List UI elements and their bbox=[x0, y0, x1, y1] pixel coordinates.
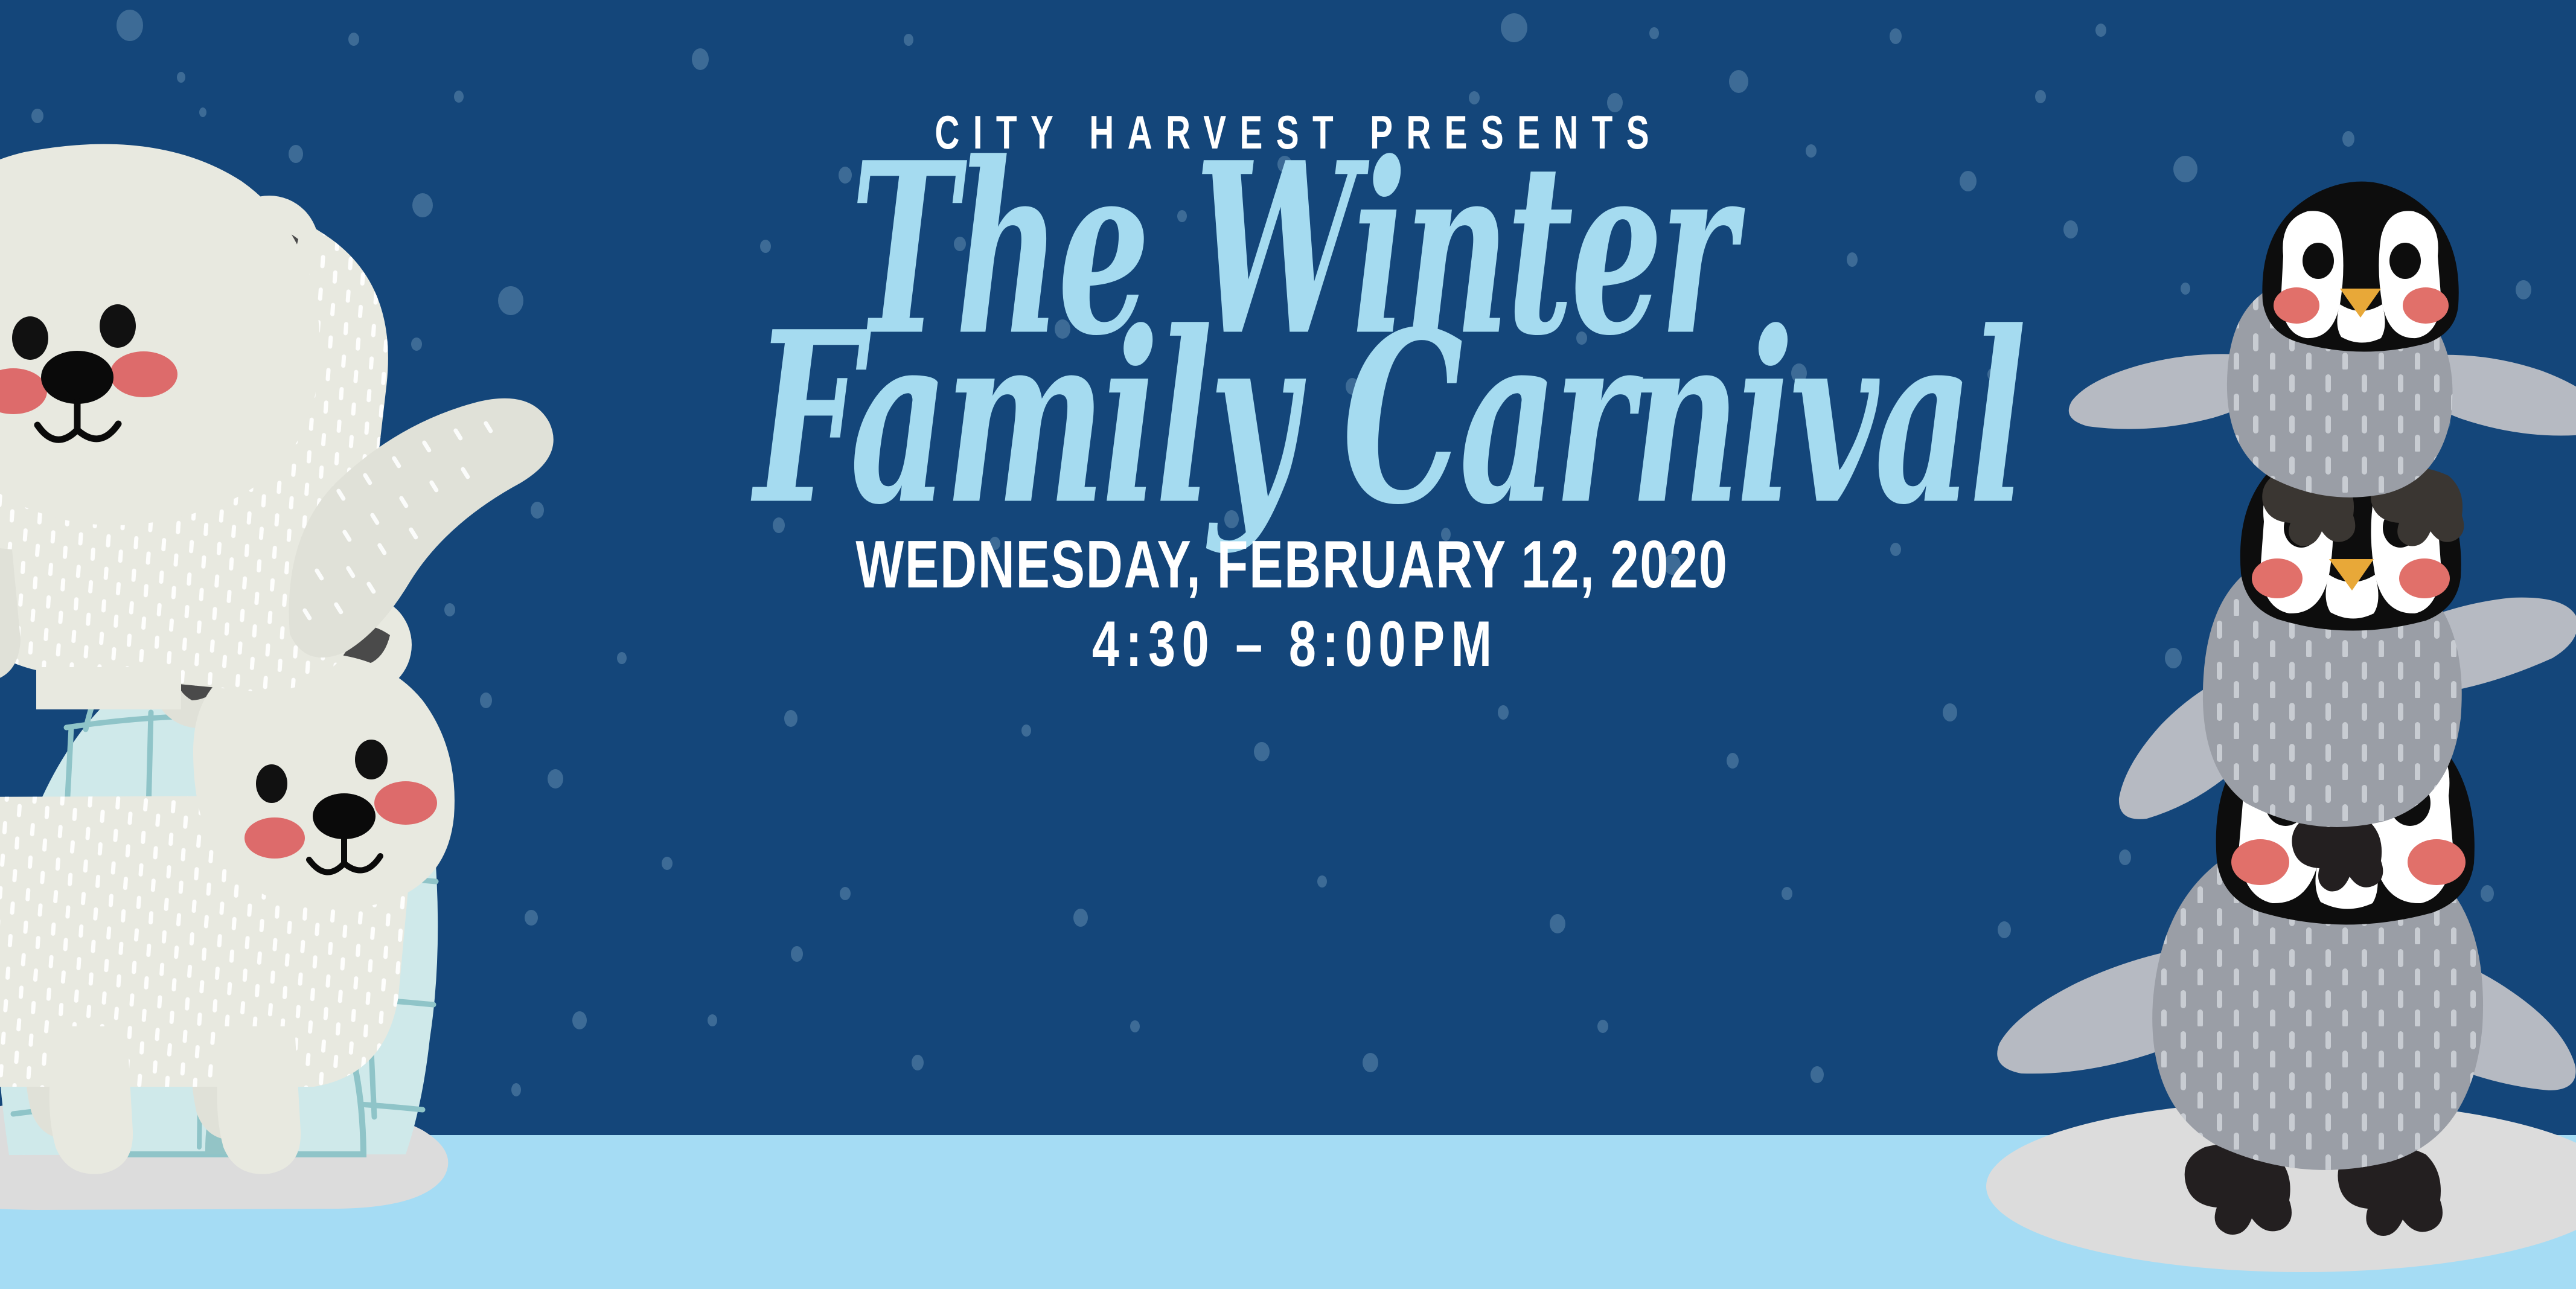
event-time: 4:30 – 8:00PM bbox=[729, 608, 1855, 680]
banner-text-block: CITY HARVEST PRESENTS The Winter Family … bbox=[652, 109, 1932, 676]
penguin-top-eye-right bbox=[2389, 243, 2421, 279]
event-date: WEDNESDAY, FEBRUARY 12, 2020 bbox=[729, 527, 1855, 603]
penguin-bottom-cheek-right bbox=[2408, 839, 2466, 885]
penguin-top-cheek-left bbox=[2274, 287, 2319, 324]
penguin-bottom-cheek-left bbox=[2231, 839, 2289, 885]
penguin-top-eye-left bbox=[2303, 243, 2334, 279]
penguin-top bbox=[2069, 182, 2576, 546]
event-datetime: WEDNESDAY, FEBRUARY 12, 2020 4:30 – 8:00… bbox=[652, 533, 1932, 676]
event-title: The Winter Family Carnival bbox=[652, 171, 1932, 496]
penguin-middle-cheek-right bbox=[2399, 558, 2450, 598]
title-line-2: Family Carnival bbox=[755, 317, 1830, 519]
penguin-top-cheek-right bbox=[2403, 287, 2449, 324]
penguin-middle-cheek-left bbox=[2252, 558, 2303, 598]
winter-carnival-banner: CITY HARVEST PRESENTS The Winter Family … bbox=[0, 0, 2576, 1289]
